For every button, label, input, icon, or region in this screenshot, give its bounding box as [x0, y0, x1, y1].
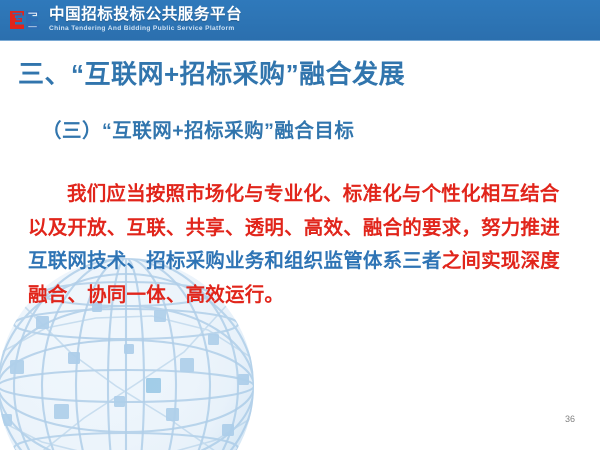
body-segment-red-1: 我们应当按照市场化与专业化、标准化与个性化相互结合以及开放、互联、共享、透明、高…: [28, 183, 560, 239]
page-subtitle: （三）“互联网+招标采购”融合目标: [42, 114, 354, 143]
eb-platform-logo-icon: [8, 8, 42, 32]
brand-name-en: China Tendering And Bidding Public Servi…: [49, 26, 242, 33]
brand-name-cn: 中国招标投标公共服务平台: [49, 7, 242, 23]
page-title: 三、“互联网+招标采购”融合发展: [18, 54, 405, 91]
body-paragraph: 我们应当按照市场化与专业化、标准化与个性化相互结合以及开放、互联、共享、透明、高…: [28, 178, 576, 312]
platform-header-bar: 中国招标投标公共服务平台 China Tendering And Bidding…: [0, 0, 600, 41]
slide-canvas: 中国招标投标公共服务平台 China Tendering And Bidding…: [0, 0, 600, 450]
brand-block: 中国招标投标公共服务平台 China Tendering And Bidding…: [49, 7, 242, 32]
body-segment-blue: 互联网技术、招标采购业务和组织监管体系三者: [28, 250, 442, 272]
page-number: 36: [565, 414, 575, 424]
